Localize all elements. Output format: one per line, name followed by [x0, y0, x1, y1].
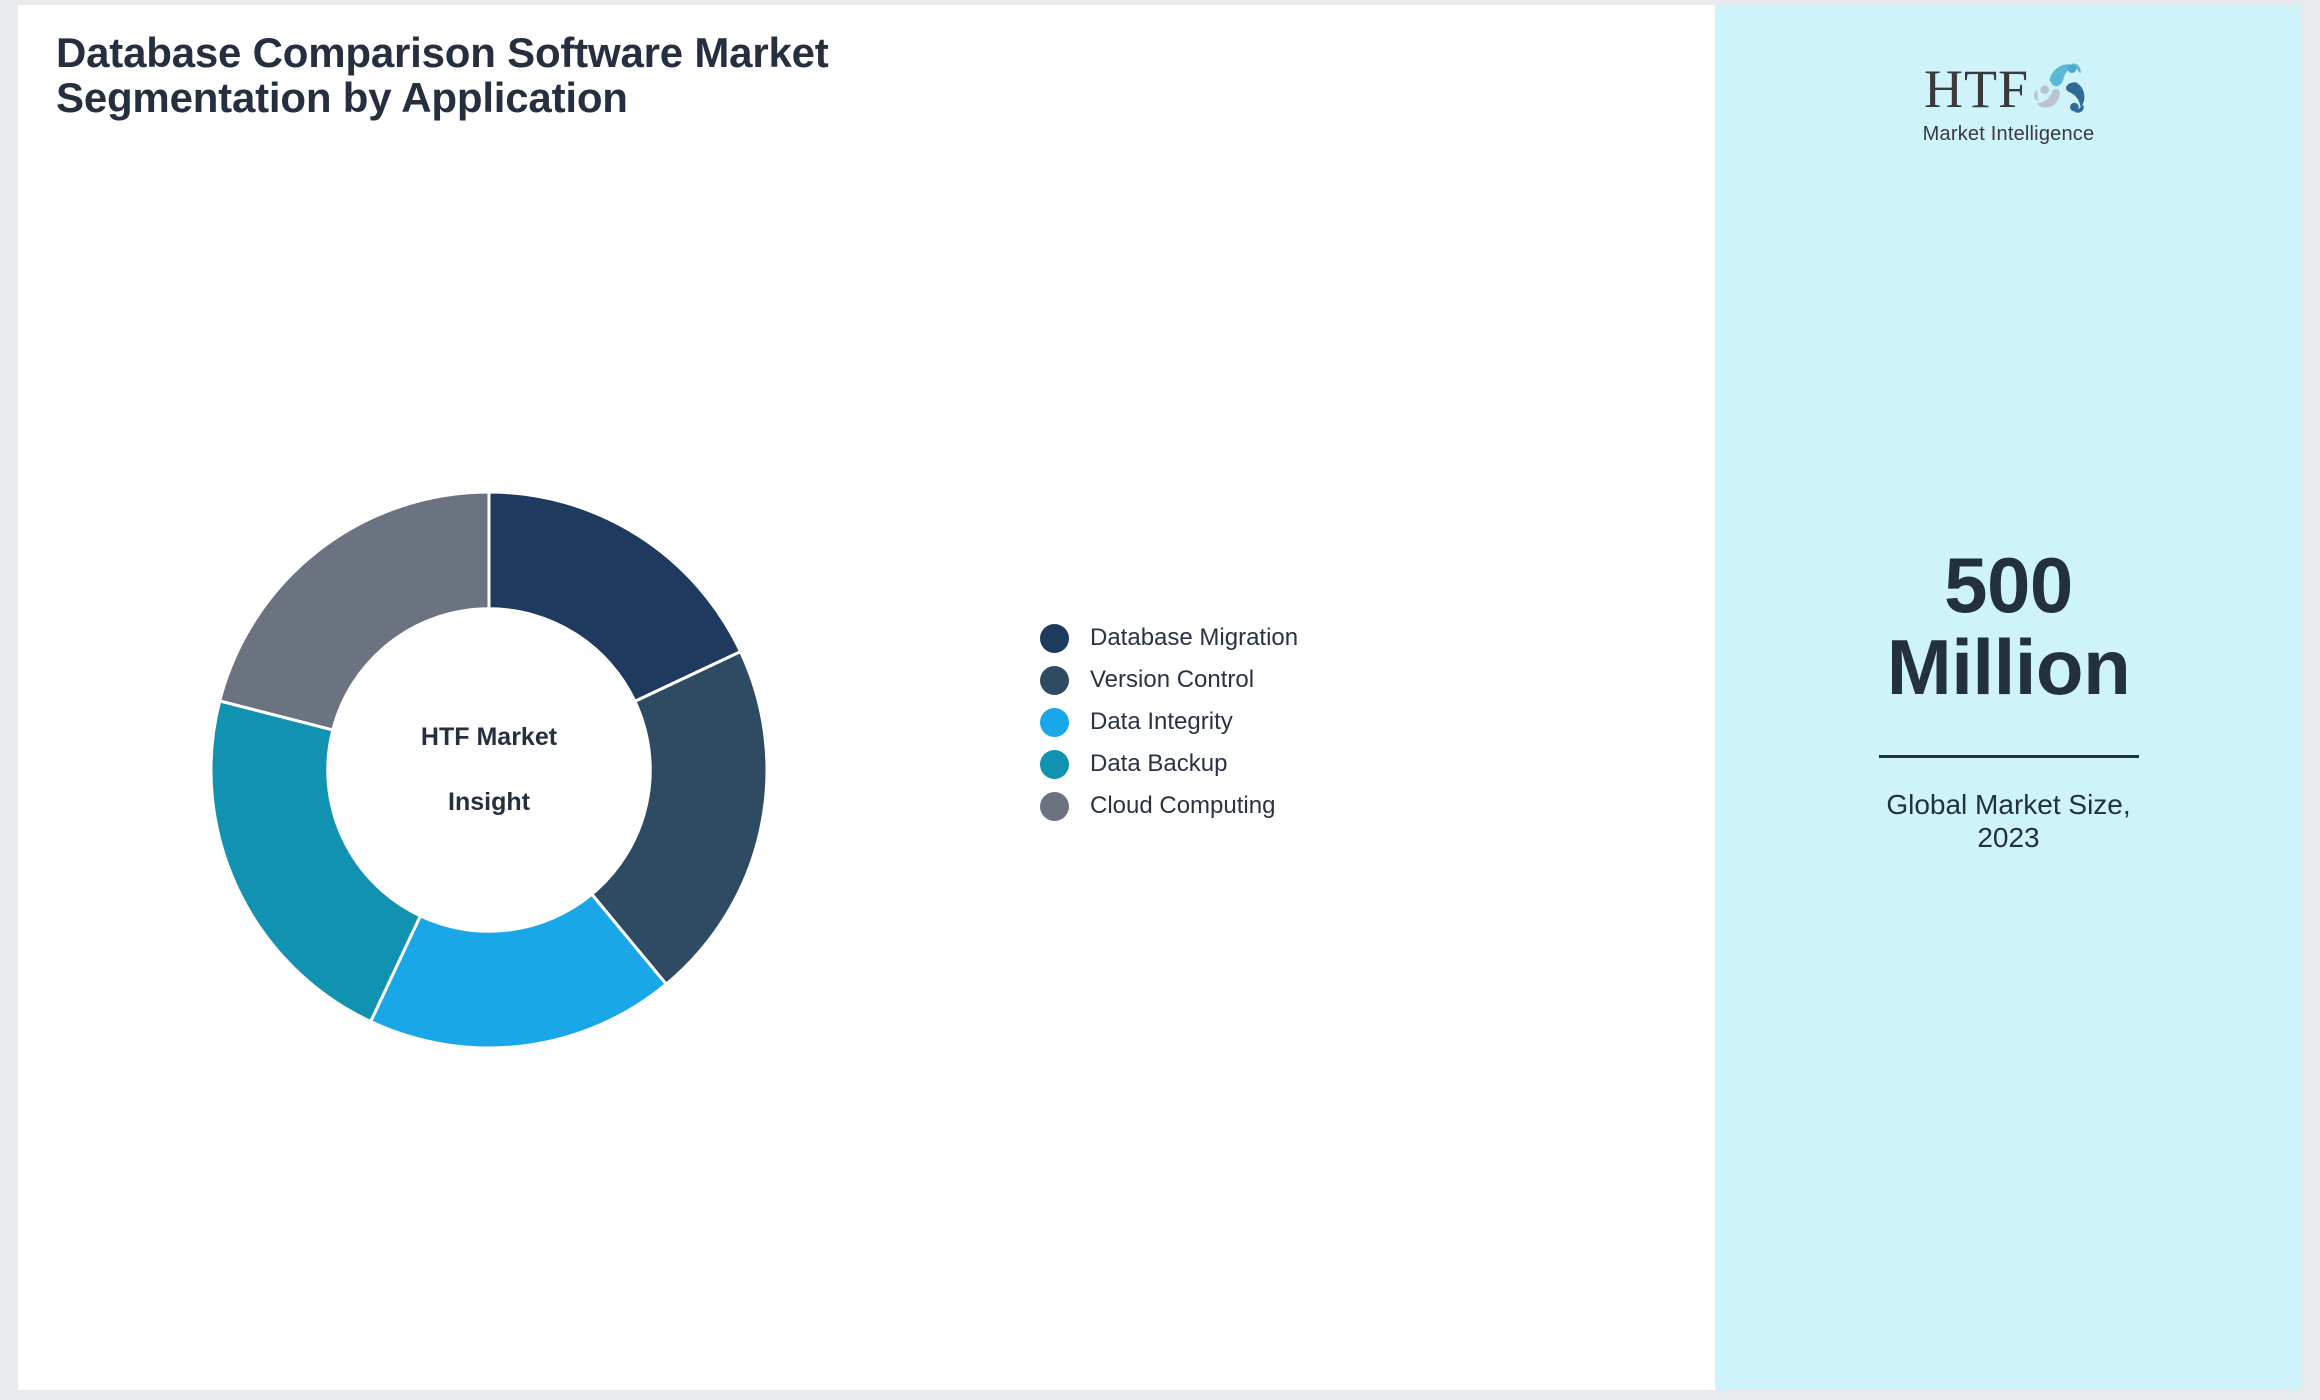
market-size-value-line-1: 500 — [1774, 545, 2244, 627]
donut-chart: HTF Market Insight — [206, 487, 772, 1053]
legend-item-label: Data Integrity — [1090, 708, 1233, 736]
logo-top-row: HTF — [1884, 57, 2134, 121]
donut-slice[interactable] — [211, 701, 420, 1022]
legend-item[interactable]: Cloud Computing — [1040, 785, 1298, 827]
logo-tagline: Market Intelligence — [1884, 123, 2134, 146]
market-size-caption-line-2: 2023 — [1774, 821, 2244, 854]
stat-divider — [1879, 755, 2139, 758]
three-figures-circle-emblem-icon — [2031, 55, 2093, 117]
chart-legend: Database MigrationVersion ControlData In… — [1040, 617, 1298, 827]
legend-swatch-icon — [1040, 666, 1069, 695]
market-size-stat: 500 Million Global Market Size, 2023 — [1774, 545, 2244, 854]
legend-item-label: Data Backup — [1090, 750, 1227, 778]
page-title: Database Comparison Software Market Segm… — [56, 30, 956, 121]
market-size-value-line-2: Million — [1774, 627, 2244, 709]
legend-item-label: Version Control — [1090, 666, 1254, 694]
legend-swatch-icon — [1040, 750, 1069, 779]
donut-chart-svg — [206, 487, 772, 1053]
chart-panel: Database Comparison Software Market Segm… — [18, 5, 1715, 1390]
market-size-value: 500 Million — [1774, 545, 2244, 709]
report-card: Database Comparison Software Market Segm… — [18, 5, 2302, 1390]
brand-logo: HTF — [1884, 57, 2134, 146]
legend-swatch-icon — [1040, 792, 1069, 821]
legend-item-label: Database Migration — [1090, 624, 1298, 652]
logo-wordmark: HTF — [1924, 62, 2029, 116]
legend-item[interactable]: Data Integrity — [1040, 701, 1298, 743]
market-size-caption: Global Market Size, 2023 — [1774, 788, 2244, 854]
donut-slice-group — [211, 492, 767, 1048]
donut-slice[interactable] — [220, 492, 489, 730]
legend-item-label: Cloud Computing — [1090, 792, 1275, 820]
legend-item[interactable]: Database Migration — [1040, 617, 1298, 659]
highlight-panel: HTF — [1715, 5, 2302, 1390]
legend-item[interactable]: Version Control — [1040, 659, 1298, 701]
legend-swatch-icon — [1040, 708, 1069, 737]
market-size-caption-line-1: Global Market Size, — [1774, 788, 2244, 821]
legend-item[interactable]: Data Backup — [1040, 743, 1298, 785]
screenshot-root: Database Comparison Software Market Segm… — [0, 0, 2320, 1400]
legend-swatch-icon — [1040, 624, 1069, 653]
